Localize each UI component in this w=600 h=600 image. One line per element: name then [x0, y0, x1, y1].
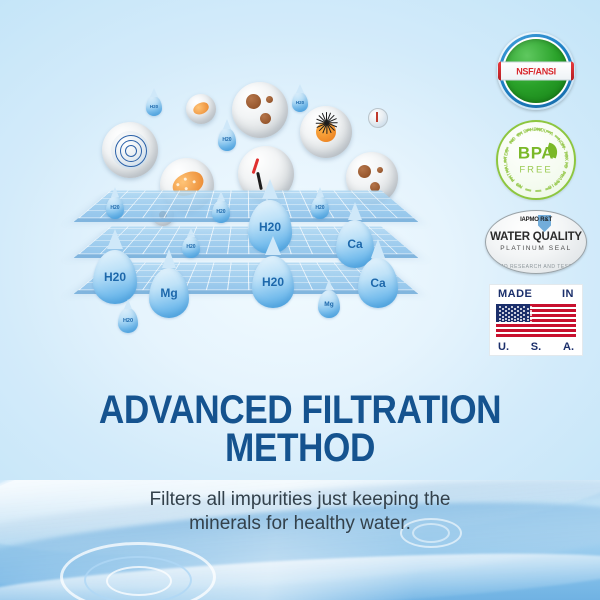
in-label: IN — [562, 288, 574, 300]
iapmo-logo-label: IAPMO R&T — [520, 217, 552, 223]
flag-star — [499, 318, 501, 320]
flag-star — [520, 312, 522, 314]
droplet-label: Mg — [160, 286, 177, 300]
droplet-label: H20 — [216, 209, 225, 215]
droplet-label: H20 — [296, 100, 304, 105]
s-label: S. — [531, 341, 541, 353]
flag-star — [508, 312, 510, 314]
flag-star — [517, 314, 519, 316]
certification-badges: CERTIFIED BY SWIFT GREEN FILTERS NSF/ANS… — [484, 32, 588, 366]
flag-star — [514, 312, 516, 314]
bpa-free-badge: NO PHTHALATES NO BISPHENOL-A NON-TOXIC P… — [484, 120, 588, 200]
rust-dot — [266, 96, 273, 103]
rust-particle-large — [232, 82, 288, 138]
flag-star — [514, 308, 516, 310]
headline-line-2: METHOD — [36, 430, 564, 468]
flag-canton — [496, 304, 530, 322]
flag-star — [523, 318, 525, 320]
flag-star — [514, 319, 516, 321]
water-droplet: H20 — [311, 196, 329, 219]
sediment-particle — [186, 94, 216, 124]
flag-star — [523, 306, 525, 308]
chlorine-mark — [376, 112, 378, 122]
page-title: ADVANCED FILTRATION METHOD — [36, 392, 564, 467]
flag-star — [514, 316, 516, 318]
droplet-label: Ca — [347, 237, 362, 251]
cyst-particle — [102, 122, 158, 178]
flag-star — [530, 306, 532, 308]
flag-star — [520, 308, 522, 310]
droplet-label: H20 — [104, 270, 126, 284]
flag-star — [505, 314, 507, 316]
sediment-core — [191, 100, 210, 117]
flag-star — [502, 319, 504, 321]
flag-star — [520, 319, 522, 321]
water-droplet: H20 — [182, 236, 200, 258]
droplet-label: H20 — [222, 137, 231, 143]
flag-star — [511, 318, 513, 320]
droplet-label: H20 — [262, 275, 284, 289]
nsf-center-banner: NSF/ANSI — [501, 62, 571, 81]
water-droplet: H20 — [218, 128, 236, 151]
iapmo-footer-text: IAPMO RESEARCH AND TESTING — [486, 264, 586, 270]
nsf-ansi-certification-badge: CERTIFIED BY SWIFT GREEN FILTERS NSF/ANS… — [484, 32, 588, 110]
a-label: A. — [563, 341, 574, 353]
droplet-label: H20 — [186, 244, 195, 250]
usa-flag-icon — [496, 304, 576, 337]
rust-dot — [358, 165, 371, 178]
flag-star — [508, 319, 510, 321]
poster-root: H20 H20 H20 H20 H20 H20 H20 H20 — [0, 0, 600, 600]
water-quality-title: WATER QUALITY — [486, 231, 586, 243]
flag-star — [505, 310, 507, 312]
nsf-center-label: NSF/ANSI — [516, 66, 556, 76]
droplet-label: H20 — [315, 205, 324, 211]
flag-star — [502, 316, 504, 318]
flag-star — [527, 308, 529, 310]
platinum-seal-subtitle: PLATINUM SEAL — [486, 245, 586, 252]
rust-dot — [260, 113, 271, 124]
flag-star — [508, 316, 510, 318]
water-droplet: H20 — [146, 96, 162, 116]
droplet-label: H20 — [110, 205, 119, 211]
flag-star — [511, 314, 513, 316]
flag-star — [523, 314, 525, 316]
flag-star — [527, 312, 529, 314]
flag-star — [502, 312, 504, 314]
water-droplet: Ca — [358, 258, 398, 308]
water-droplet: H20 — [118, 308, 138, 333]
filter-layer-1 — [78, 191, 414, 219]
flag-star — [523, 310, 525, 312]
water-droplet: H20 — [292, 92, 308, 112]
droplet-label: H20 — [150, 104, 158, 109]
water-droplet: H20 — [93, 250, 137, 304]
droplet-label: Mg — [324, 301, 333, 308]
water-quality-platinum-seal-badge: IAPMO R&T WATER QUALITY PLATINUM SEAL IA… — [484, 210, 588, 274]
rust-dot — [377, 167, 383, 173]
flag-star — [530, 318, 532, 320]
droplet-label: Ca — [370, 276, 385, 290]
flag-star — [499, 314, 501, 316]
u-label: U. — [498, 341, 509, 353]
bpa-sub-label: FREE — [498, 164, 574, 175]
page-subtitle: Filters all impurities just keeping the … — [0, 488, 600, 537]
flag-star — [527, 319, 529, 321]
water-ripple-3 — [106, 566, 172, 596]
flag-star — [517, 318, 519, 320]
water-droplet: H20 — [212, 200, 230, 223]
bacteria-speck — [183, 177, 187, 181]
bacteria-speck — [176, 183, 180, 187]
flag-star — [527, 316, 529, 318]
bacteria-speck — [192, 180, 196, 184]
made-in-usa-badge: MADE IN U. S. A. — [484, 284, 588, 356]
rust-dot — [246, 94, 261, 109]
flag-star — [505, 318, 507, 320]
droplet-label: H20 — [123, 318, 133, 324]
flag-star — [530, 310, 532, 312]
flag-star — [520, 316, 522, 318]
water-droplet: Mg — [318, 290, 340, 318]
bpa-main-label: BPA — [498, 143, 574, 163]
made-label: MADE — [498, 288, 532, 300]
flag-star — [508, 308, 510, 310]
subtitle-line-2: minerals for healthy water. — [0, 512, 600, 536]
flag-star — [502, 308, 504, 310]
flag-stripe — [496, 334, 576, 337]
flag-star — [517, 306, 519, 308]
flag-star — [511, 310, 513, 312]
flag-star — [530, 314, 532, 316]
advanced-filtration-diagram: H20 H20 H20 H20 H20 H20 H20 H20 — [96, 78, 416, 338]
water-droplet: H20 — [106, 196, 124, 219]
droplet-label: H20 — [259, 220, 281, 234]
flag-star — [517, 310, 519, 312]
flag-star — [499, 306, 501, 308]
flag-star — [511, 306, 513, 308]
virus-particle — [300, 106, 352, 158]
cyst-core — [111, 131, 149, 169]
flag-star — [505, 306, 507, 308]
cyst-ring-inner — [125, 145, 137, 157]
flag-star — [499, 310, 501, 312]
subtitle-line-1: Filters all impurities just keeping the — [0, 488, 600, 512]
chlorine-particle — [368, 108, 388, 128]
